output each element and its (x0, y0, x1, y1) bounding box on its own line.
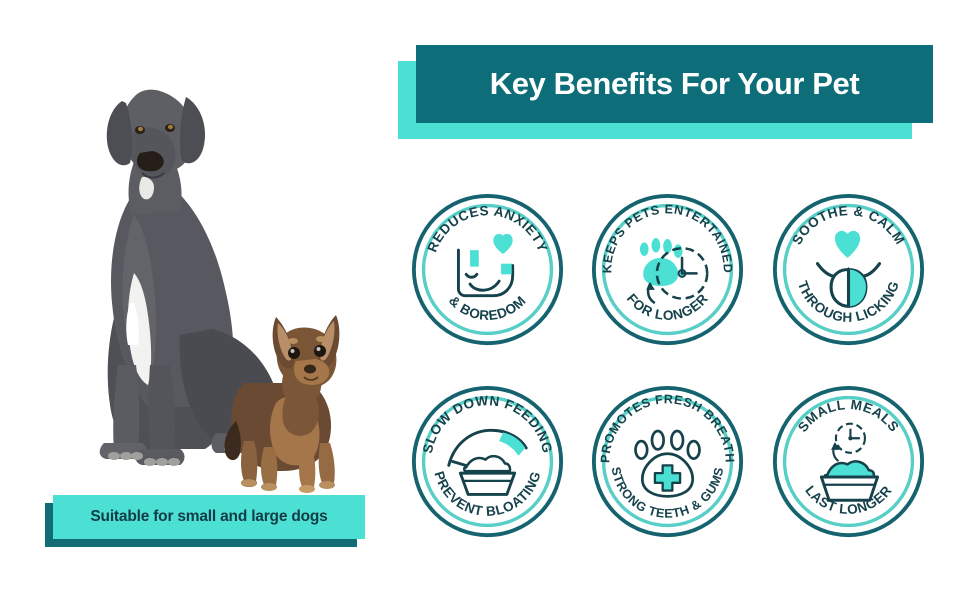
badge-top-label: SMALL MEALS (795, 397, 902, 435)
badge-promotes-fresh-breath: PROMOTES FRESH BREATH STRONG TEETH & GUM… (590, 384, 745, 539)
suitable-caption: Suitable for small and large dogs (45, 495, 365, 547)
header-bar: Key Benefits For Your Pet (416, 45, 933, 123)
badge-soothe-and-calm: SOOTHE & CALM THROUGH LICKING (771, 192, 926, 347)
badge-top-label: SLOW DOWN FEEDING (420, 393, 555, 455)
benefits-badge-grid: REDUCES ANXIETY & BOREDOM (404, 192, 956, 572)
promo-infographic: Suitable for small and large dogs Key Be… (0, 0, 970, 600)
page-title: Key Benefits For Your Pet (490, 66, 860, 102)
badge-small-meals: SMALL MEALS LAST LONGER (771, 384, 926, 539)
dog-face-heart-icon (458, 234, 512, 296)
badge-keeps-pets-entertained: KEEPS PETS ENTERTAINED FOR LONGER (590, 192, 745, 347)
paw-clock-icon (640, 238, 707, 302)
paw-medical-cross-icon (636, 431, 700, 496)
badge-slow-down-feeding: SLOW DOWN FEEDING PREVENT BLOATING (410, 384, 565, 539)
badge-bottom-label: FOR LONGER (624, 291, 711, 323)
clock-food-bowl-icon (821, 424, 877, 501)
badge-reduces-anxiety: REDUCES ANXIETY & BOREDOM (410, 192, 565, 347)
caption-bar: Suitable for small and large dogs (53, 495, 365, 539)
two-dogs-photo (30, 35, 380, 495)
heart-tongue-icon (818, 231, 880, 306)
header-banner: Key Benefits For Your Pet (398, 45, 933, 140)
speedometer-bowl-icon (449, 430, 527, 494)
badge-bottom-label: & BOREDOM (446, 293, 529, 323)
caption-label: Suitable for small and large dogs (90, 508, 327, 526)
